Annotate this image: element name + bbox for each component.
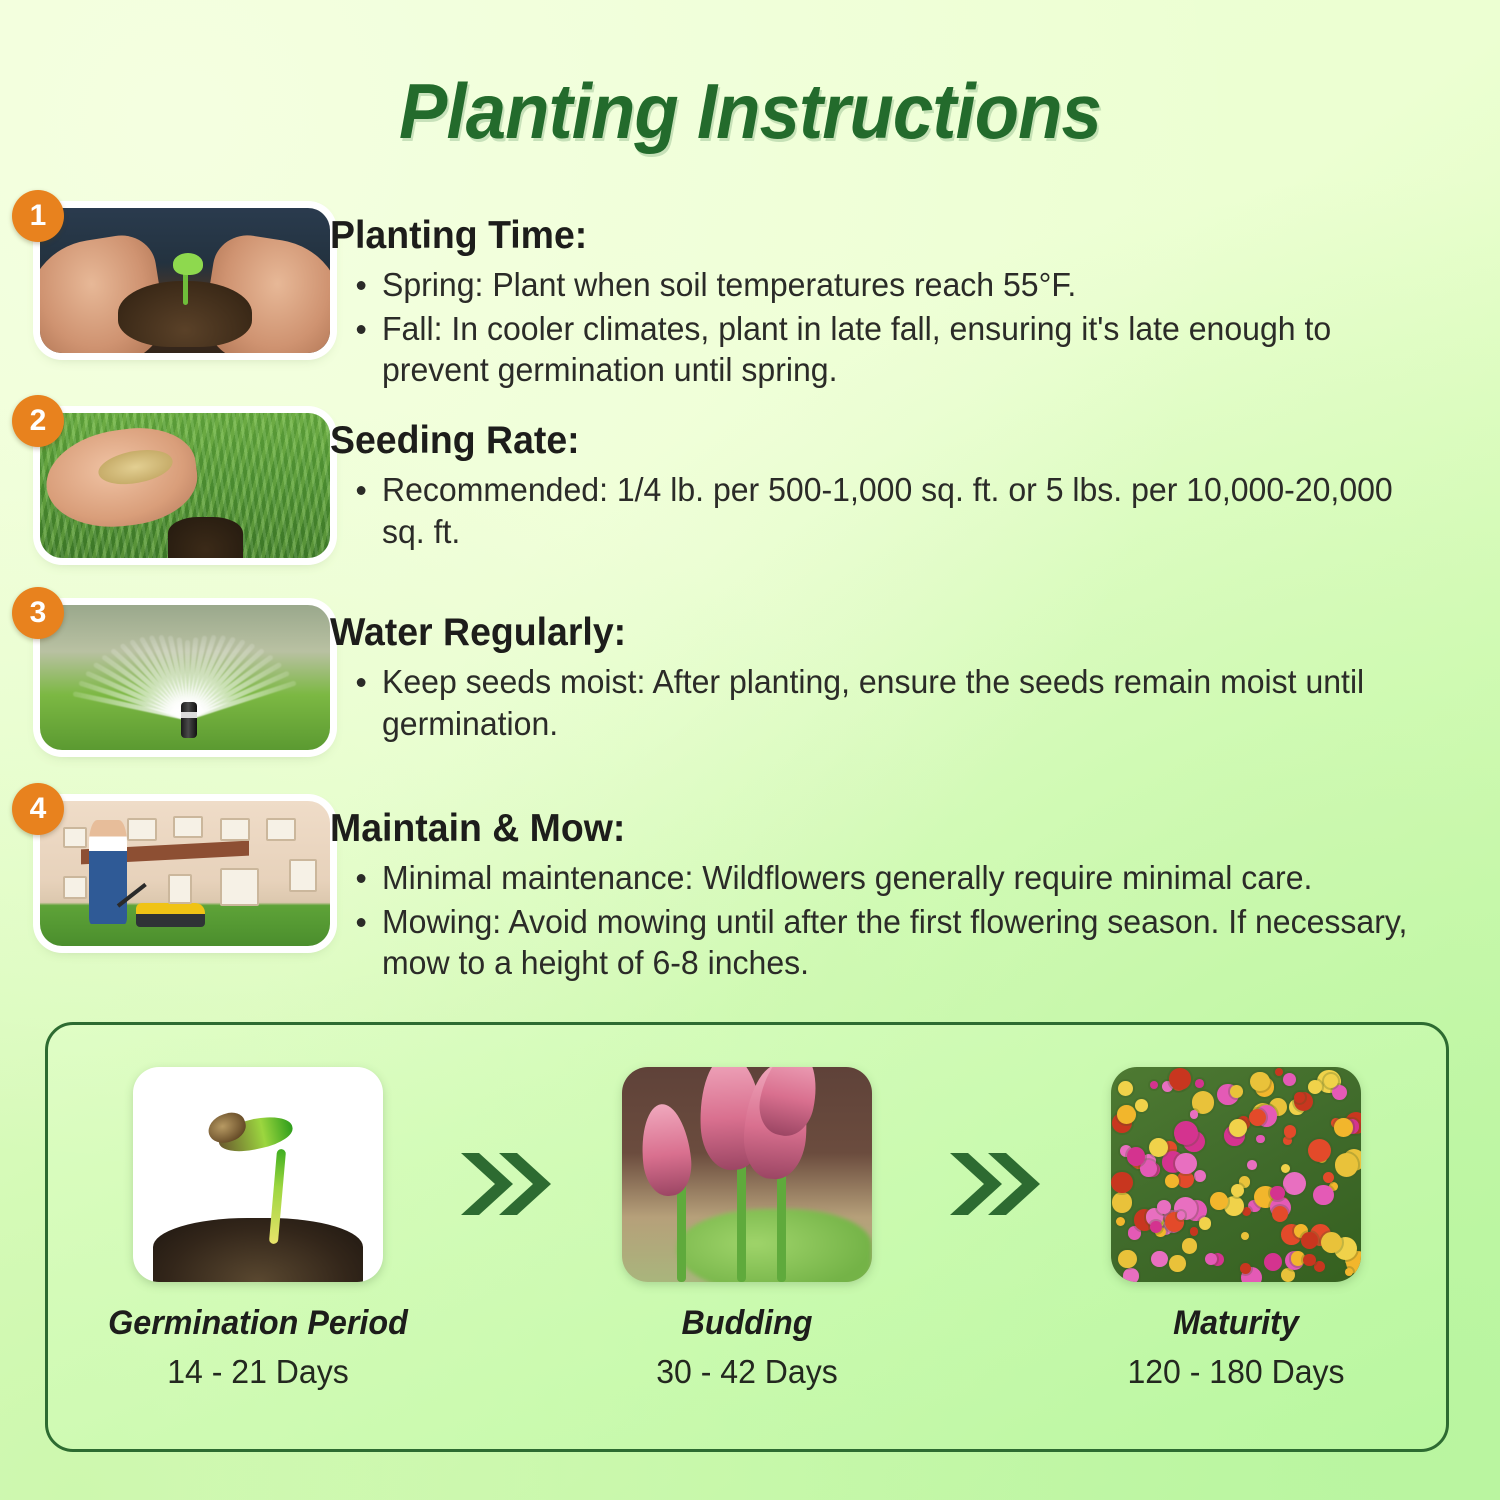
lifecycle-card: Germination Period 14 - 21 Days <box>45 1022 1449 1452</box>
lifecycle-stage-germination: Germination Period 14 - 21 Days <box>78 1067 438 1391</box>
double-chevron-right-icon <box>438 1067 567 1221</box>
bullet: Recommended: 1/4 lb. per 500-1,000 sq. f… <box>382 469 1437 552</box>
step-number-badge-2: 2 <box>12 395 64 447</box>
step-4-thumbnail-wrap: 4 <box>0 783 330 946</box>
step-number-badge-1: 1 <box>12 190 64 242</box>
step-2-heading: Seeding Rate: <box>330 419 1424 463</box>
step-4-image <box>40 801 330 946</box>
infographic-page: Planting Instructions 1 Planting Time: S… <box>0 0 1500 1500</box>
step-3-thumbnail-wrap: 3 <box>0 587 330 750</box>
germination-image <box>133 1067 383 1282</box>
step-2-thumbnail-wrap: 2 <box>0 395 330 558</box>
stage-name: Germination Period <box>87 1304 429 1343</box>
bullet: Minimal maintenance: Wildflowers general… <box>382 857 1437 899</box>
bullet: Fall: In cooler climates, plant in late … <box>382 308 1437 391</box>
step-number-badge-4: 4 <box>12 783 64 835</box>
step-1-bullets: Spring: Plant when soil temperatures rea… <box>330 264 1470 391</box>
step-4-heading: Maintain & Mow: <box>330 807 1424 851</box>
maturity-image <box>1111 1067 1361 1282</box>
bullet: Spring: Plant when soil temperatures rea… <box>382 264 1437 306</box>
lifecycle-stage-maturity: Maturity 120 - 180 Days <box>1056 1067 1416 1391</box>
stage-days: 120 - 180 Days <box>1061 1353 1410 1391</box>
stage-days: 30 - 42 Days <box>572 1353 921 1391</box>
lifecycle-stages: Germination Period 14 - 21 Days <box>48 1025 1446 1449</box>
bullet: Mowing: Avoid mowing until after the fir… <box>382 901 1437 984</box>
step-3-image <box>40 605 330 750</box>
stage-name: Maturity <box>1065 1304 1407 1343</box>
step-2-image <box>40 413 330 558</box>
step-4-body: Maintain & Mow: Minimal maintenance: Wil… <box>330 783 1500 986</box>
step-item-4: 4 Maintain & Mow: Minimal maintenance: W… <box>0 783 1500 998</box>
lifecycle-stage-budding: Budding 30 - 42 Days <box>567 1067 927 1391</box>
step-item-3: 3 Water Regularly: Keep seeds moist: Aft… <box>0 587 1500 783</box>
double-chevron-right-icon <box>927 1067 1056 1221</box>
stage-days: 14 - 21 Days <box>83 1353 432 1391</box>
step-item-1: 1 Planting Time: Spring: Plant when soil… <box>0 190 1500 395</box>
step-1-body: Planting Time: Spring: Plant when soil t… <box>330 190 1500 393</box>
page-title: Planting Instructions <box>53 72 1448 150</box>
step-2-body: Seeding Rate: Recommended: 1/4 lb. per 5… <box>330 395 1500 554</box>
step-1-heading: Planting Time: <box>330 214 1424 258</box>
step-4-bullets: Minimal maintenance: Wildflowers general… <box>330 857 1470 984</box>
budding-image <box>622 1067 872 1282</box>
step-1-thumbnail-wrap: 1 <box>0 190 330 353</box>
bullet: Keep seeds moist: After planting, ensure… <box>382 661 1437 744</box>
step-3-bullets: Keep seeds moist: After planting, ensure… <box>330 661 1470 744</box>
steps-list: 1 Planting Time: Spring: Plant when soil… <box>0 190 1500 998</box>
step-item-2: 2 Seeding Rate: Recommended: 1/4 lb. per… <box>0 395 1500 587</box>
step-2-bullets: Recommended: 1/4 lb. per 500-1,000 sq. f… <box>330 469 1470 552</box>
step-number-badge-3: 3 <box>12 587 64 639</box>
step-3-body: Water Regularly: Keep seeds moist: After… <box>330 587 1500 746</box>
step-3-heading: Water Regularly: <box>330 611 1424 655</box>
stage-name: Budding <box>576 1304 918 1343</box>
step-1-image <box>40 208 330 353</box>
